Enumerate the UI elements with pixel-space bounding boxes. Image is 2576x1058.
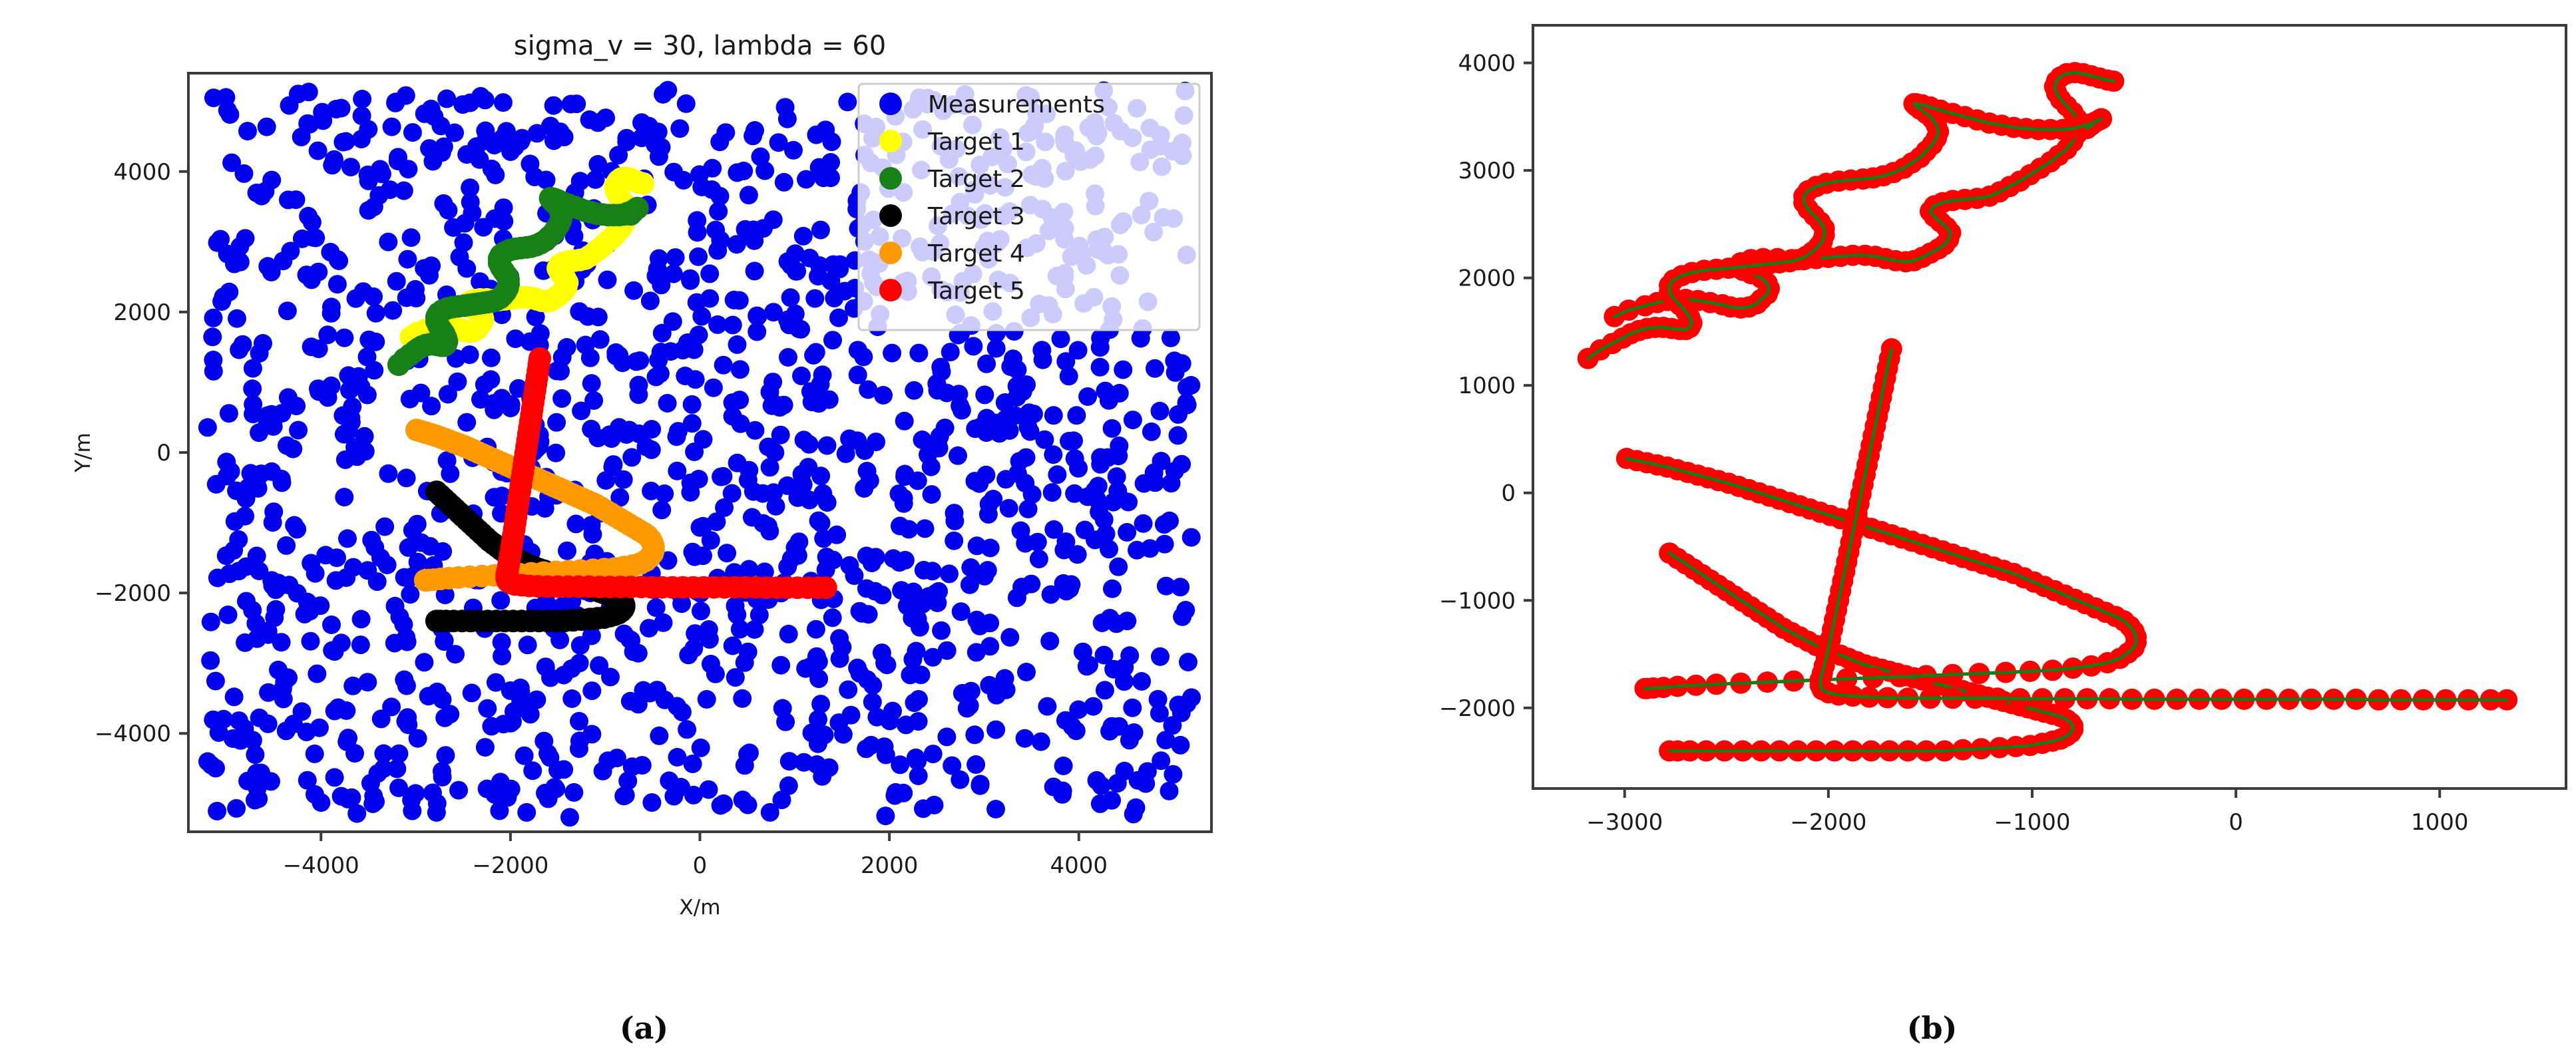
measurement-point xyxy=(366,793,385,811)
measurement-point xyxy=(325,642,344,661)
measurement-point xyxy=(1064,431,1083,450)
measurement-point xyxy=(554,760,573,779)
measurement-point xyxy=(961,576,979,594)
measurement-point xyxy=(325,150,343,169)
measurement-point xyxy=(428,683,447,701)
measurement-point xyxy=(409,729,427,748)
target-point xyxy=(632,172,654,195)
measurement-point xyxy=(249,790,268,808)
measurement-point xyxy=(702,655,720,673)
subfigure-a-caption: (a) xyxy=(0,1010,1288,1046)
measurement-point xyxy=(724,316,742,335)
series-5 xyxy=(1810,338,2518,710)
measurement-point xyxy=(770,398,789,417)
measurement-point xyxy=(1169,426,1187,444)
measurement-point xyxy=(811,466,830,485)
measurement-point xyxy=(778,110,797,128)
measurement-point xyxy=(700,781,718,799)
subfigure-b-caption: (b) xyxy=(1288,1010,2576,1046)
measurement-point xyxy=(463,683,481,702)
y-tick-label: −4000 xyxy=(95,721,171,747)
measurement-point xyxy=(309,142,327,160)
measurement-point xyxy=(571,636,590,655)
measurement-point xyxy=(1103,419,1122,438)
measurement-point xyxy=(748,307,766,325)
plot-title: sigma_v = 30, lambda = 60 xyxy=(514,31,887,61)
measurement-point xyxy=(654,85,672,104)
measurement-point xyxy=(898,596,917,615)
measurement-point xyxy=(1067,406,1086,425)
measurement-point xyxy=(365,538,384,557)
measurement-point xyxy=(712,468,730,486)
measurement-point xyxy=(728,454,747,472)
measurement-point xyxy=(428,794,447,812)
measurement-point xyxy=(779,625,798,643)
measurement-point xyxy=(214,287,233,306)
measurement-point xyxy=(940,564,959,583)
measurement-point xyxy=(423,152,442,171)
measurement-point xyxy=(570,712,588,731)
plot-data-group xyxy=(1578,0,2518,762)
measurement-point xyxy=(246,745,264,764)
measurement-point xyxy=(913,431,932,449)
measurement-point xyxy=(218,101,237,120)
measurement-point xyxy=(332,99,351,118)
measurement-point xyxy=(1108,482,1127,500)
measurement-point xyxy=(961,558,980,577)
measurement-point xyxy=(748,323,766,341)
measurement-point xyxy=(616,786,635,804)
measurement-point xyxy=(1096,382,1114,401)
measurement-point xyxy=(773,699,792,718)
legend-marker-6 xyxy=(879,279,902,301)
measurement-point xyxy=(833,638,851,657)
measurement-point xyxy=(453,95,472,114)
measurement-point xyxy=(763,373,782,391)
measurement-point xyxy=(596,471,615,490)
measurement-point xyxy=(397,87,415,105)
measurement-point xyxy=(677,94,696,113)
measurement-point xyxy=(1052,329,1070,348)
measurement-point xyxy=(786,244,805,263)
measurement-point xyxy=(519,635,537,654)
measurement-point xyxy=(292,128,311,146)
measurement-point xyxy=(666,248,685,267)
measurement-point xyxy=(1173,608,1191,626)
measurement-point xyxy=(536,784,554,802)
measurement-point xyxy=(1132,672,1151,691)
y-tick-label: 4000 xyxy=(1458,51,1516,77)
measurement-point xyxy=(781,288,800,307)
measurement-point xyxy=(231,731,250,750)
measurement-point xyxy=(930,439,949,457)
y-tick-label: −2000 xyxy=(95,580,171,607)
measurement-point xyxy=(227,799,246,818)
measurement-point xyxy=(641,291,660,310)
measurement-point xyxy=(598,751,617,770)
measurement-point xyxy=(256,182,274,201)
measurement-point xyxy=(728,335,747,354)
measurement-point xyxy=(482,349,501,367)
measurement-point xyxy=(689,248,708,266)
measurement-point xyxy=(564,783,583,802)
measurement-point xyxy=(876,806,895,825)
measurement-point xyxy=(385,634,404,653)
measurement-point xyxy=(733,689,751,708)
x-tick-label: 1000 xyxy=(2411,809,2469,836)
measurement-point xyxy=(650,250,668,268)
measurement-point xyxy=(700,620,718,639)
measurement-point xyxy=(449,781,468,800)
measurement-point xyxy=(491,591,510,610)
measurement-point xyxy=(867,548,885,566)
measurement-point xyxy=(457,413,476,432)
measurement-point xyxy=(1172,455,1191,474)
measurement-point xyxy=(322,616,341,634)
measurement-point xyxy=(433,768,452,787)
measurement-point xyxy=(1000,499,1018,518)
measurement-point xyxy=(652,343,670,361)
measurement-point xyxy=(1074,643,1092,661)
measurement-point xyxy=(746,262,764,280)
measurement-point xyxy=(678,720,696,739)
measurement-point xyxy=(398,250,417,269)
measurement-point xyxy=(269,574,288,592)
measurement-point xyxy=(471,390,490,409)
measurement-point xyxy=(521,154,539,173)
measurement-point xyxy=(225,687,244,706)
measurement-point xyxy=(654,614,673,632)
measurement-point xyxy=(794,227,813,246)
measurement-point xyxy=(351,635,370,654)
measurement-point xyxy=(1142,423,1161,441)
measurement-point xyxy=(686,548,704,566)
measurement-point xyxy=(278,301,297,320)
measurement-point xyxy=(285,516,304,535)
measurement-point xyxy=(203,327,222,346)
target-point xyxy=(2075,0,2096,11)
measurement-point xyxy=(875,654,894,673)
legend-label-6: Target 5 xyxy=(927,277,1025,305)
measurement-point xyxy=(451,248,469,266)
measurement-point xyxy=(1078,387,1097,406)
measurement-point xyxy=(652,275,670,294)
measurement-point xyxy=(839,681,857,699)
measurement-point xyxy=(884,549,903,568)
measurement-point xyxy=(1016,729,1034,748)
measurement-point xyxy=(987,339,1006,358)
measurement-point xyxy=(600,425,619,444)
measurement-point xyxy=(456,214,475,233)
measurement-point xyxy=(586,170,605,189)
measurement-point xyxy=(322,297,341,316)
measurement-point xyxy=(1048,465,1066,484)
measurement-point xyxy=(1016,534,1034,553)
measurement-point xyxy=(718,544,736,562)
measurement-point xyxy=(274,689,293,708)
measurement-point xyxy=(911,618,929,637)
measurement-point xyxy=(1100,540,1118,558)
measurement-point xyxy=(402,228,421,247)
measurement-point xyxy=(686,370,705,389)
measurement-point xyxy=(811,695,830,713)
measurement-point xyxy=(558,542,576,560)
measurement-point xyxy=(367,304,385,323)
measurement-point xyxy=(335,488,353,506)
measurement-point xyxy=(1044,406,1063,425)
measurement-point xyxy=(945,512,964,530)
measurement-point xyxy=(1160,512,1179,530)
measurement-point xyxy=(633,756,652,775)
measurement-point xyxy=(734,791,752,809)
measurement-point xyxy=(890,484,909,503)
measurement-point xyxy=(1151,402,1170,421)
measurement-point xyxy=(714,356,733,375)
measurement-point xyxy=(337,132,355,151)
measurement-point xyxy=(262,772,280,791)
measurement-point xyxy=(961,697,979,715)
measurement-point xyxy=(1092,777,1111,795)
measurement-point xyxy=(1088,490,1106,508)
measurement-point xyxy=(818,437,837,455)
measurement-point xyxy=(511,132,530,151)
measurement-point xyxy=(951,771,969,789)
measurement-point xyxy=(441,705,459,723)
measurement-point xyxy=(581,349,600,367)
measurement-point xyxy=(1054,757,1073,775)
measurement-point xyxy=(1182,528,1201,547)
measurement-point xyxy=(206,759,225,777)
series-1 xyxy=(1604,62,2124,327)
measurement-point xyxy=(650,147,668,166)
target-point xyxy=(815,576,837,599)
measurement-point xyxy=(730,291,749,310)
measurement-point xyxy=(1020,403,1038,422)
measurement-point xyxy=(715,498,734,517)
measurement-point xyxy=(980,614,999,632)
measurement-point xyxy=(787,262,805,281)
measurement-point xyxy=(820,391,839,409)
measurement-point xyxy=(712,796,730,815)
measurement-point xyxy=(734,162,753,180)
measurement-point xyxy=(394,615,413,633)
measurement-point xyxy=(949,446,967,465)
measurement-point xyxy=(337,701,355,720)
measurement-point xyxy=(848,431,867,450)
measurement-point xyxy=(1127,798,1146,817)
measurement-point xyxy=(709,202,728,221)
measurement-point xyxy=(897,715,915,734)
measurement-point xyxy=(624,281,643,300)
measurement-point xyxy=(736,756,754,775)
measurement-point xyxy=(562,95,580,114)
measurement-point xyxy=(1115,658,1134,677)
measurement-point xyxy=(885,787,904,805)
measurement-point xyxy=(201,651,220,670)
measurement-point xyxy=(558,338,576,357)
measurement-point xyxy=(812,514,831,532)
measurement-point xyxy=(341,158,360,176)
measurement-point xyxy=(250,344,269,363)
measurement-point xyxy=(238,122,257,140)
measurement-point xyxy=(1160,782,1179,800)
measurement-point xyxy=(1038,697,1056,716)
measurement-point xyxy=(805,289,824,308)
target-point xyxy=(414,569,437,592)
measurement-point xyxy=(809,267,827,285)
measurement-point xyxy=(740,186,758,204)
measurement-point xyxy=(811,221,830,240)
measurement-point xyxy=(688,293,706,312)
measurement-point xyxy=(1034,351,1052,369)
measurement-point xyxy=(1149,690,1168,709)
measurement-point xyxy=(584,391,603,410)
measurement-point xyxy=(345,744,364,763)
measurement-point xyxy=(1084,697,1102,716)
measurement-point xyxy=(664,787,683,806)
measurement-point xyxy=(1146,473,1164,492)
measurement-point xyxy=(277,536,296,555)
measurement-point xyxy=(259,715,278,733)
measurement-point xyxy=(952,602,970,621)
measurement-point xyxy=(328,275,347,293)
measurement-point xyxy=(668,748,687,767)
measurement-point xyxy=(938,641,957,660)
measurement-point xyxy=(786,305,805,323)
measurement-point xyxy=(476,738,495,757)
measurement-point xyxy=(1120,731,1139,749)
measurement-point xyxy=(365,361,383,380)
measurement-point xyxy=(359,331,378,349)
measurement-point xyxy=(375,518,394,536)
measurement-point xyxy=(310,339,328,358)
measurement-point xyxy=(690,470,708,488)
measurement-point xyxy=(604,455,623,474)
measurement-point xyxy=(335,425,353,444)
measurement-point xyxy=(493,389,511,407)
measurement-point xyxy=(436,746,455,765)
measurement-point xyxy=(494,93,513,112)
legend-marker-1 xyxy=(879,92,902,115)
measurement-point xyxy=(398,708,417,727)
measurement-point xyxy=(1107,614,1126,633)
measurement-point xyxy=(724,393,742,412)
measurement-point xyxy=(941,343,960,361)
legend-marker-2 xyxy=(879,130,902,152)
measurement-point xyxy=(1103,580,1122,598)
measurement-point xyxy=(807,343,825,361)
measurement-point xyxy=(204,88,223,107)
measurement-point xyxy=(582,420,600,439)
measurement-point xyxy=(632,113,651,132)
measurement-point xyxy=(928,594,947,612)
legend-marker-3 xyxy=(879,167,902,190)
measurement-point xyxy=(1091,338,1110,357)
measurement-point xyxy=(698,690,716,709)
measurement-point xyxy=(1171,578,1189,596)
measurement-point xyxy=(688,223,707,242)
measurement-point xyxy=(668,427,686,446)
measurement-point xyxy=(308,665,326,683)
measurement-point xyxy=(630,351,649,370)
measurement-point xyxy=(211,230,230,249)
measurement-point xyxy=(439,385,457,404)
measurement-point xyxy=(923,485,941,504)
measurement-point xyxy=(859,381,877,399)
measurement-point xyxy=(1008,377,1026,395)
measurement-point xyxy=(692,739,710,757)
measurement-point xyxy=(481,370,500,389)
measurement-point xyxy=(246,614,265,633)
measurement-point xyxy=(433,542,452,561)
y-tick-label: 0 xyxy=(1501,480,1516,507)
measurement-point xyxy=(916,519,935,538)
x-tick-label: −4000 xyxy=(283,852,359,879)
x-tick-label: 0 xyxy=(2229,809,2243,836)
measurement-point xyxy=(353,90,371,108)
measurement-point xyxy=(1030,550,1048,568)
measurement-point xyxy=(369,764,387,783)
measurement-point xyxy=(986,721,1005,739)
measurement-point xyxy=(1114,361,1132,379)
measurement-point xyxy=(724,637,742,655)
x-tick-label: −2000 xyxy=(472,852,548,879)
measurement-point xyxy=(487,673,505,692)
target-point xyxy=(620,203,642,226)
measurement-point xyxy=(691,518,710,537)
measurement-point xyxy=(641,684,660,703)
x-tick-label: 0 xyxy=(693,852,708,879)
measurement-point xyxy=(478,699,497,718)
measurement-point xyxy=(535,732,553,751)
measurement-point xyxy=(883,344,901,363)
measurement-point xyxy=(531,324,550,343)
measurement-point xyxy=(912,665,931,684)
measurement-point xyxy=(1165,351,1183,370)
measurement-point xyxy=(854,347,873,366)
measurement-point xyxy=(217,546,236,565)
measurement-point xyxy=(397,468,416,487)
measurement-point xyxy=(966,755,985,774)
measurement-point xyxy=(1123,699,1142,717)
measurement-point xyxy=(298,771,317,790)
measurement-point xyxy=(978,561,997,580)
measurement-point xyxy=(230,238,249,256)
measurement-point xyxy=(379,464,397,483)
measurement-point xyxy=(813,767,831,786)
measurement-point xyxy=(252,464,270,483)
measurement-point xyxy=(1091,794,1110,813)
measurement-point xyxy=(287,397,306,415)
measurement-point xyxy=(821,153,840,172)
measurement-point xyxy=(266,600,285,619)
measurement-point xyxy=(792,367,811,385)
measurement-point xyxy=(1096,681,1114,699)
measurement-point xyxy=(374,745,393,763)
measurement-point xyxy=(642,441,661,459)
measurement-point xyxy=(583,525,602,544)
measurement-point xyxy=(764,210,783,229)
legend-marker-5 xyxy=(879,242,902,264)
measurement-point xyxy=(968,536,986,555)
measurement-point xyxy=(383,301,402,320)
measurement-point xyxy=(1169,405,1187,424)
measurement-point xyxy=(552,389,571,408)
measurement-point xyxy=(784,141,803,160)
measurement-point xyxy=(1065,484,1084,503)
measurement-point xyxy=(206,672,225,691)
measurement-point xyxy=(359,201,378,220)
